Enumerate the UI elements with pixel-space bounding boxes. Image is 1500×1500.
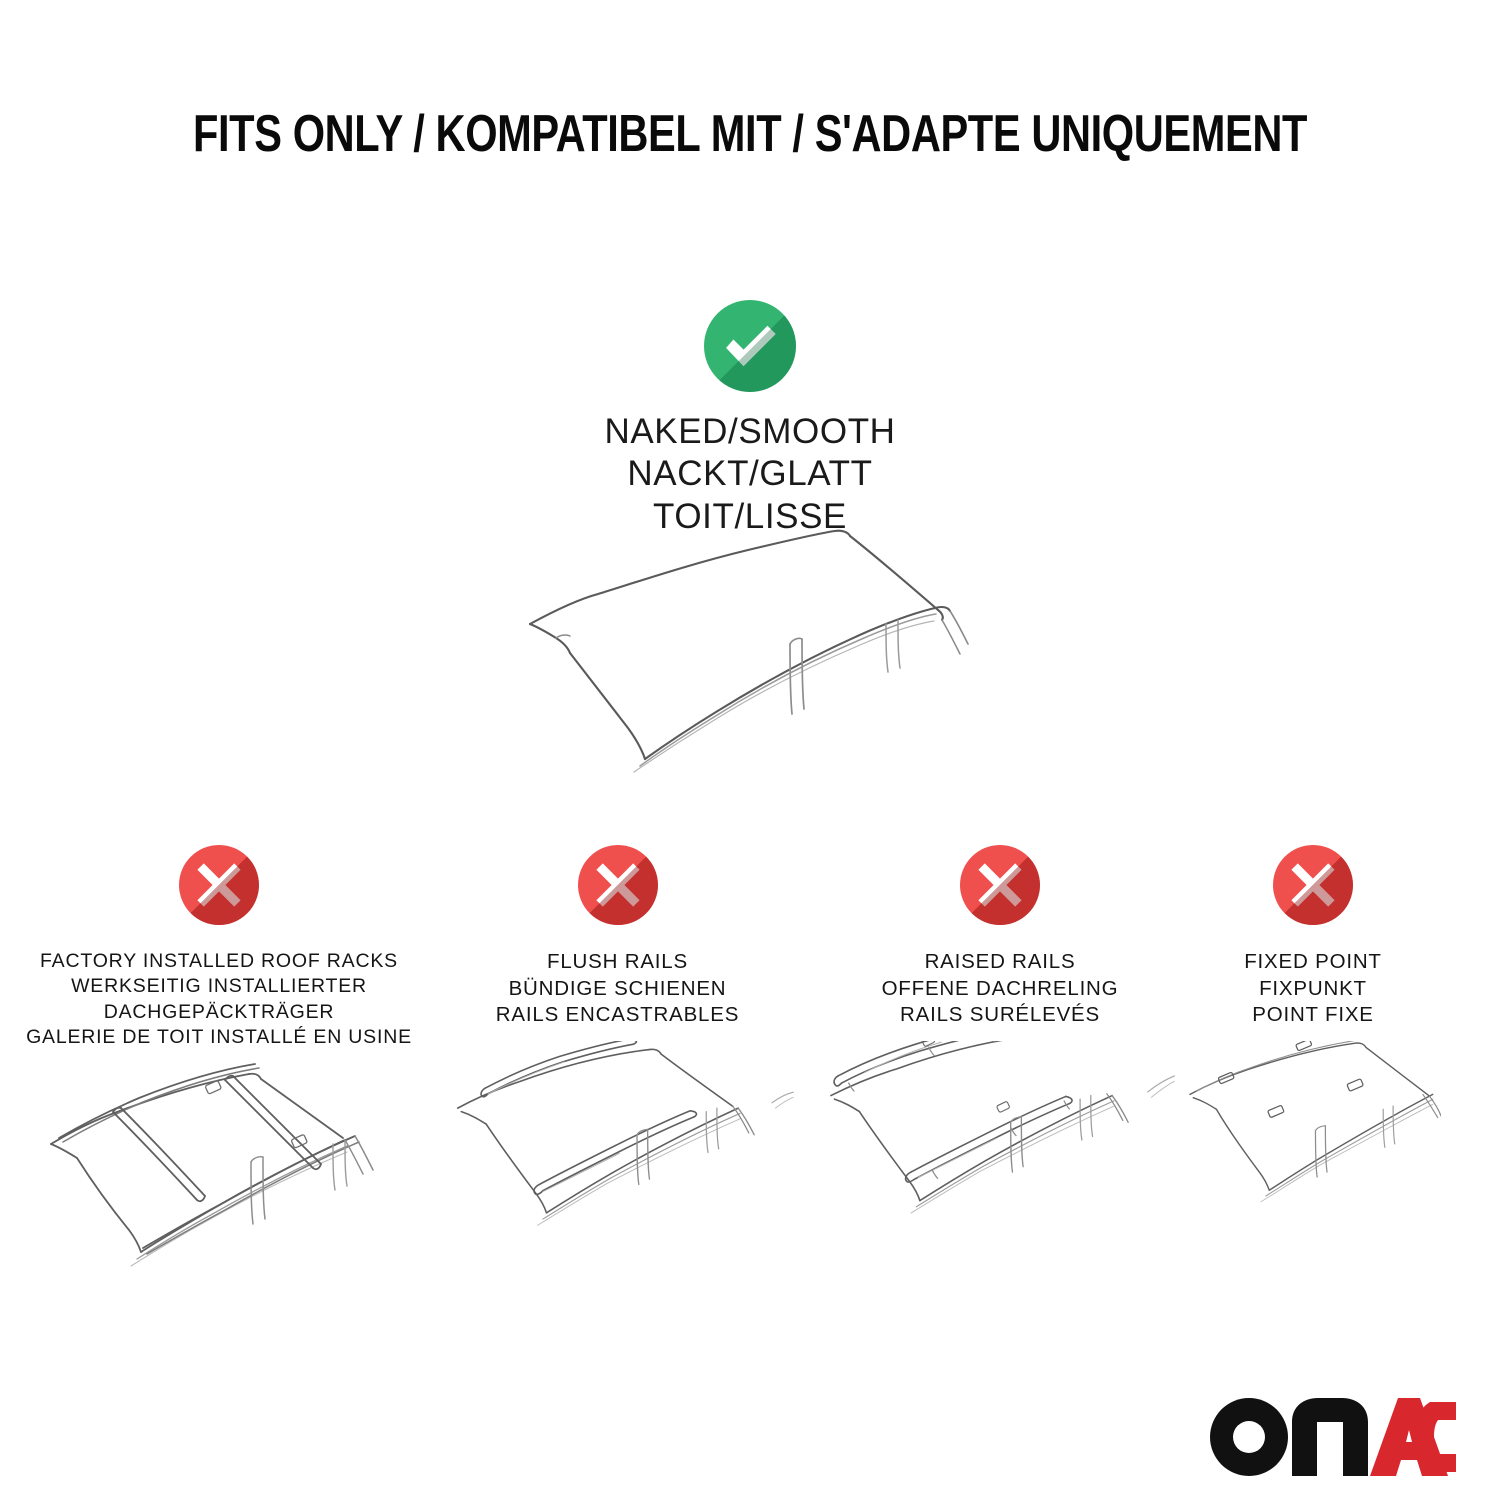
car-roof-raised-rails-illustration [822, 1041, 1178, 1256]
nofit-caption-line-1: FACTORY INSTALLED ROOF RACKS [19, 949, 419, 974]
car-roof-flush-rails-illustration [440, 1041, 795, 1256]
cross-mark-icon [179, 845, 259, 925]
nofit-item-factory-installed-roof-racks: FACTORY INSTALLED ROOF RACKS WERKSEITIG … [19, 845, 419, 1277]
nofit-caption-line-3: DACHGEPÄCKTRÄGER [19, 1000, 419, 1025]
badge-wrap [822, 845, 1178, 941]
nofit-caption-line-2: OFFENE DACHRELING [822, 976, 1178, 1003]
nofit-item-raised-rails: RAISED RAILS OFFENE DACHRELING RAILS SUR… [822, 845, 1178, 1256]
nofit-caption: RAISED RAILS OFFENE DACHRELING RAILS SUR… [822, 949, 1178, 1029]
fitting-caption-line-2: NACKT/GLATT [0, 453, 1500, 495]
nofit-caption: FIXED POINT FIXPUNKT POINT FIXE [1185, 949, 1441, 1029]
fitting-caption-line-1: NAKED/SMOOTH [0, 411, 1500, 453]
nofit-caption-line-2: WERKSEITIG INSTALLIERTER [19, 974, 419, 999]
car-roof-fixed-point-illustration [1185, 1041, 1441, 1256]
nofit-caption-line-4: GALERIE DE TOIT INSTALLÉ EN USINE [19, 1025, 419, 1050]
nofit-caption-line-1: FIXED POINT [1185, 949, 1441, 976]
check-mark-icon [704, 300, 796, 392]
badge-wrap [19, 845, 419, 941]
car-roof-naked-smooth-illustration [490, 516, 1030, 786]
badge-wrap [1185, 845, 1441, 941]
nofit-caption: FACTORY INSTALLED ROOF RACKS WERKSEITIG … [19, 949, 419, 1050]
nofit-caption-line-3: POINT FIXE [1185, 1002, 1441, 1029]
nofit-item-fixed-point: FIXED POINT FIXPUNKT POINT FIXE [1185, 845, 1441, 1256]
fitting-section: NAKED/SMOOTH NACKT/GLATT TOIT/LISSE [0, 300, 1500, 538]
badge-wrap [440, 845, 795, 941]
nofit-caption-line-1: FLUSH RAILS [440, 949, 795, 976]
omac-logo [1206, 1392, 1456, 1478]
nofit-caption-line-3: RAILS ENCASTRABLES [440, 1002, 795, 1029]
nofit-caption-line-2: BÜNDIGE SCHIENEN [440, 976, 795, 1003]
car-roof-factory-racks-illustration [19, 1062, 419, 1277]
nofit-caption: FLUSH RAILS BÜNDIGE SCHIENEN RAILS ENCAS… [440, 949, 795, 1029]
page-title: FITS ONLY / KOMPATIBEL MIT / S'ADAPTE UN… [150, 104, 1350, 164]
nofit-caption-line-3: RAILS SURÉLEVÉS [822, 1002, 1178, 1029]
nofit-caption-line-2: FIXPUNKT [1185, 976, 1441, 1003]
cross-mark-icon [578, 845, 658, 925]
cross-mark-icon [960, 845, 1040, 925]
cross-mark-icon [1273, 845, 1353, 925]
nofit-caption-line-1: RAISED RAILS [822, 949, 1178, 976]
nofit-item-flush-rails: FLUSH RAILS BÜNDIGE SCHIENEN RAILS ENCAS… [440, 845, 795, 1256]
